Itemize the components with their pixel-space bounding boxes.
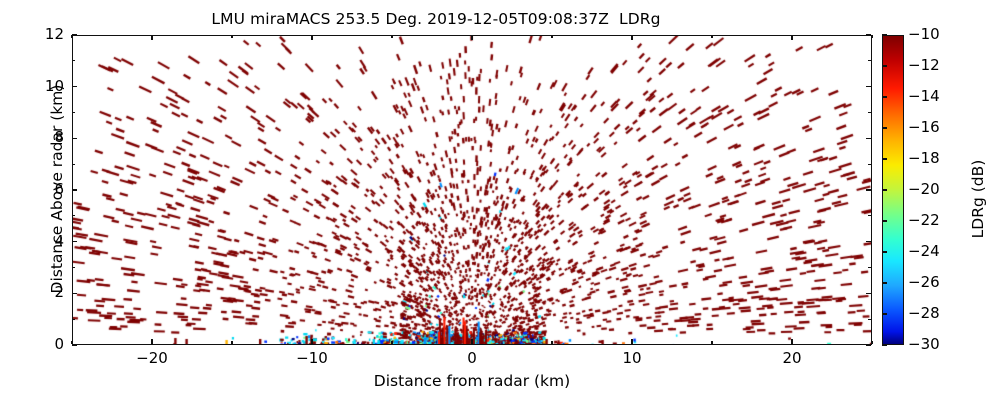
y-tick-major <box>72 86 77 87</box>
y-tick-major <box>866 86 871 87</box>
y-tick-major <box>72 189 77 190</box>
y-tick-label: 2 <box>20 283 64 301</box>
x-tick-minor <box>391 35 392 38</box>
x-tick-label: 10 <box>592 349 672 367</box>
x-tick-label: 0 <box>432 349 512 367</box>
scatter-canvas <box>73 36 872 345</box>
colorbar-tick-label: −24 <box>908 242 940 260</box>
x-tick-minor <box>231 35 232 38</box>
colorbar-tick <box>882 127 887 128</box>
colorbar-tick-label: −12 <box>908 56 940 74</box>
x-tick-major <box>311 339 312 344</box>
colorbar-tick <box>882 220 887 221</box>
x-tick-label: 20 <box>752 349 832 367</box>
y-tick-major <box>866 34 871 35</box>
colorbar-tick-label: −16 <box>908 118 940 136</box>
x-tick-minor <box>871 341 872 344</box>
colorbar-tick <box>882 65 887 66</box>
colorbar-tick <box>882 158 887 159</box>
y-tick-minor <box>72 112 75 113</box>
x-tick-major <box>631 35 632 40</box>
colorbar-tick <box>882 344 887 345</box>
colorbar-tick-label: −26 <box>908 273 940 291</box>
y-tick-label: 8 <box>20 128 64 146</box>
colorbar-tick-label: −14 <box>908 87 940 105</box>
y-tick-minor <box>72 215 75 216</box>
y-tick-minor <box>72 267 75 268</box>
x-tick-major <box>791 339 792 344</box>
x-tick-major <box>151 339 152 344</box>
y-tick-minor <box>868 112 871 113</box>
colorbar-tick <box>882 189 887 190</box>
x-tick-minor <box>231 341 232 344</box>
colorbar-tick <box>882 251 887 252</box>
y-tick-major <box>866 241 871 242</box>
y-tick-label: 10 <box>20 77 64 95</box>
y-tick-major <box>72 293 77 294</box>
y-tick-minor <box>868 319 871 320</box>
y-tick-minor <box>72 164 75 165</box>
x-tick-minor <box>871 35 872 38</box>
colorbar-tick-label: −20 <box>908 180 940 198</box>
page-title: LMU miraMACS 253.5 Deg. 2019-12-05T09:08… <box>0 10 872 28</box>
y-tick-major <box>866 138 871 139</box>
plot-area <box>72 35 872 345</box>
colorbar-tick <box>882 34 887 35</box>
x-axis-label: Distance from radar (km) <box>72 372 872 390</box>
y-tick-major <box>72 138 77 139</box>
x-tick-label: −10 <box>272 349 352 367</box>
x-tick-major <box>791 35 792 40</box>
y-tick-major <box>72 34 77 35</box>
colorbar-tick-label: −30 <box>908 335 940 353</box>
colorbar-tick-label: −10 <box>908 25 940 43</box>
radar-rhi-figure: LMU miraMACS 253.5 Deg. 2019-12-05T09:08… <box>0 0 1000 400</box>
colorbar-tick-label: −22 <box>908 211 940 229</box>
y-tick-major <box>866 293 871 294</box>
x-tick-major <box>631 339 632 344</box>
y-tick-label: 6 <box>20 180 64 198</box>
y-tick-minor <box>868 60 871 61</box>
colorbar-tick <box>882 96 887 97</box>
y-tick-minor <box>868 267 871 268</box>
colorbar-tick-label: −18 <box>908 149 940 167</box>
y-tick-major <box>866 189 871 190</box>
x-tick-minor <box>711 35 712 38</box>
x-tick-major <box>151 35 152 40</box>
y-tick-label: 12 <box>20 25 64 43</box>
x-tick-major <box>471 339 472 344</box>
colorbar-tick-label: −28 <box>908 304 940 322</box>
y-tick-minor <box>72 319 75 320</box>
y-tick-label: 0 <box>20 335 64 353</box>
x-tick-minor <box>391 341 392 344</box>
x-tick-major <box>311 35 312 40</box>
y-tick-minor <box>72 60 75 61</box>
x-tick-label: −20 <box>112 349 192 367</box>
y-tick-minor <box>868 215 871 216</box>
colorbar-label: LDRg (dB) <box>969 44 987 354</box>
x-tick-minor <box>551 35 552 38</box>
y-tick-major <box>72 344 77 345</box>
x-tick-minor <box>551 341 552 344</box>
x-tick-major <box>471 35 472 40</box>
colorbar-tick <box>882 282 887 283</box>
x-tick-minor <box>711 341 712 344</box>
y-tick-minor <box>868 164 871 165</box>
colorbar-tick <box>882 313 887 314</box>
y-tick-label: 4 <box>20 232 64 250</box>
y-tick-major <box>72 241 77 242</box>
y-tick-major <box>866 344 871 345</box>
